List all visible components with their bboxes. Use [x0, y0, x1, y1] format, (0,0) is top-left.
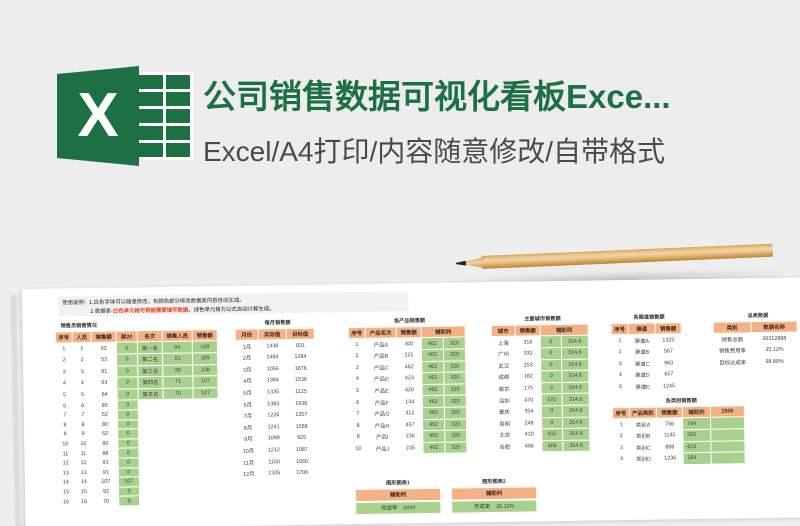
cell-sales[interactable]: 88	[93, 448, 118, 458]
cell-no[interactable]: 1	[612, 419, 629, 431]
cell-rank-person[interactable]	[164, 457, 194, 467]
table-row[interactable]: 3渠道C963	[612, 357, 682, 370]
cell-actual[interactable]: 1384	[259, 375, 287, 387]
cell-aux[interactable]: 744	[682, 418, 710, 430]
cell-month[interactable]: 12月	[237, 468, 260, 480]
cell-rank[interactable]: 第四名	[138, 377, 163, 389]
cell-sales[interactable]: 420	[397, 384, 422, 396]
cell-sales[interactable]: 80	[92, 420, 117, 430]
cell-rank-person[interactable]	[164, 486, 194, 496]
cell-summary-value[interactable]: 35.12%	[751, 344, 797, 356]
cell-no[interactable]: 8	[56, 420, 73, 430]
cell-sales[interactable]: 316	[515, 336, 540, 348]
cell-no[interactable]: 3	[612, 358, 629, 370]
cell-sales[interactable]: 236	[398, 431, 423, 443]
cell-top20[interactable]: 0	[119, 496, 140, 506]
cell-aux1[interactable]: 462	[422, 361, 444, 373]
cell-aux1[interactable]: 0	[540, 347, 561, 359]
cell-product-name[interactable]: 产品D	[366, 373, 397, 385]
cell-rank-person[interactable]	[163, 419, 193, 429]
cell-sales[interactable]: 63	[92, 377, 117, 389]
cell-rank-sales[interactable]	[194, 466, 219, 476]
cell-no[interactable]: 1	[348, 339, 365, 351]
cell-top20[interactable]: 0	[117, 389, 138, 401]
cell-aux2[interactable]: 314.6	[562, 428, 589, 440]
cell-top20[interactable]: 0	[117, 400, 138, 410]
cell-summary-value[interactable]: 26312888	[751, 332, 797, 344]
cell-no[interactable]: 10	[57, 439, 74, 449]
cell-target[interactable]: 1876	[287, 363, 315, 375]
cell-aux-bar[interactable]	[711, 440, 745, 452]
cell-rank-sales[interactable]: 109	[192, 341, 217, 353]
cell-aux-bar[interactable]	[711, 429, 745, 441]
cell-month[interactable]: 3月	[236, 364, 259, 376]
table-row[interactable]: 目标达成率98.88%	[714, 356, 798, 369]
cell-sales[interactable]: 107	[93, 477, 118, 487]
cell-rank[interactable]	[139, 457, 164, 467]
cell-person[interactable]: 15	[74, 487, 93, 497]
cell-aux1[interactable]: 0	[541, 417, 562, 429]
cell-no[interactable]: 16	[58, 497, 75, 507]
cell-aux1[interactable]: 0	[541, 371, 562, 383]
cell-target[interactable]: 1706	[288, 467, 316, 479]
cell-top20[interactable]: 0	[117, 377, 138, 389]
cell-sales[interactable]: 182	[516, 371, 541, 383]
cell-person[interactable]: 9	[74, 430, 93, 440]
cell-person[interactable]: 12	[74, 458, 93, 468]
cell-sales[interactable]: 423	[397, 373, 422, 385]
cell-month[interactable]: 6月	[236, 398, 259, 410]
cell-person[interactable]: 10	[74, 439, 93, 449]
cell-sales[interactable]: 470	[516, 394, 541, 406]
cell-sales[interactable]: 1245	[656, 380, 682, 392]
cell-aux2[interactable]: 314.6	[561, 347, 588, 359]
cell-sales[interactable]: 91	[93, 468, 118, 478]
channels-table[interactable]: 序号 渠道 销售额 1渠道A13252渠道B5673渠道C9634渠道D6575…	[611, 322, 683, 394]
cell-aux2[interactable]: 314.6	[561, 335, 588, 347]
cell-channel[interactable]: 渠道E	[629, 381, 656, 393]
cell-city[interactable]: 重庆	[492, 406, 516, 418]
cell-month[interactable]: 4月	[236, 375, 259, 387]
cell-aux1[interactable]: 462	[421, 338, 443, 350]
cell-sales[interactable]: 85	[92, 400, 117, 410]
cell-target[interactable]: 931	[286, 340, 314, 352]
cell-aux-bar[interactable]	[711, 452, 745, 464]
cities-table[interactable]: 城市 销售额 辅助列 上海3160314.6广州3320314.6武汉25303…	[491, 323, 591, 453]
cell-city[interactable]: 广州	[491, 348, 515, 360]
cell-city[interactable]: 北京	[493, 429, 517, 441]
cell-no[interactable]: 1	[55, 343, 72, 355]
cell-rank[interactable]: 第二名	[137, 353, 162, 365]
cell-month[interactable]: 9月	[237, 433, 260, 445]
cell-sales[interactable]: 406	[517, 441, 542, 453]
cell-aux2[interactable]: 320	[444, 418, 466, 430]
cell-aux1[interactable]: 462	[421, 349, 443, 361]
cell-sales[interactable]: 248	[516, 417, 541, 429]
cell-city[interactable]: 武汉	[492, 360, 516, 372]
cell-sales[interactable]: 80	[93, 439, 118, 449]
spreadsheet-sheet[interactable]: 使用说明：1.白色字体可以随意修改，有颜色部分修改数据表内容自动生成。 2.数据…	[22, 277, 800, 526]
cell-no[interactable]: 4	[612, 370, 629, 382]
cell-no[interactable]: 4	[349, 374, 366, 386]
cell-top20[interactable]: 0	[117, 365, 138, 377]
cell-aux1[interactable]: 462	[422, 419, 444, 431]
cell-rank[interactable]	[139, 429, 164, 439]
cell-no[interactable]: 2	[55, 355, 72, 367]
cell-rank-person[interactable]: 51	[162, 353, 192, 365]
table-row[interactable]: 合肥406406314.6	[493, 440, 590, 453]
cell-aux2[interactable]: 314.6	[561, 359, 588, 371]
cell-rank-sales[interactable]	[194, 457, 219, 467]
cell-sales[interactable]: 92	[93, 487, 118, 497]
cell-aux2[interactable]: 314.6	[562, 405, 589, 417]
cell-top20[interactable]: 0	[118, 486, 139, 496]
cell-summary-label[interactable]: 销售总额	[713, 333, 751, 345]
cell-product-name[interactable]: 产品E	[366, 385, 397, 397]
cell-rank-person[interactable]	[164, 476, 194, 486]
cell-sales[interactable]: 332	[515, 348, 540, 360]
cell-aux2[interactable]: 314.6	[562, 417, 589, 429]
cell-aux1[interactable]: 462	[423, 442, 445, 454]
cell-aux1[interactable]: 462	[422, 407, 444, 419]
cell-sales[interactable]: 756	[656, 418, 682, 430]
cell-rank[interactable]	[139, 448, 164, 458]
cell-rank[interactable]: 第五名	[138, 388, 163, 400]
cell-rank-person[interactable]: 64	[162, 341, 192, 353]
cell-sales[interactable]: 70	[94, 496, 119, 506]
cell-actual[interactable]: 1241	[259, 421, 287, 433]
cell-product-name[interactable]: 产品H	[366, 419, 397, 431]
cell-no[interactable]: 3	[56, 366, 73, 378]
cell-target[interactable]: 1284	[286, 351, 314, 363]
cell-no[interactable]: 11	[57, 449, 74, 459]
cell-no[interactable]: 2	[613, 430, 630, 442]
products-table[interactable]: 序号 产品名次 销售额 辅助列 1产品A3004623202产品B2214623…	[348, 325, 468, 455]
cell-target[interactable]: 1087	[288, 444, 316, 456]
cell-summary-label[interactable]: 销售费用率	[713, 345, 751, 357]
cell-product-name[interactable]: 产品F	[366, 396, 397, 408]
cell-rank[interactable]	[139, 438, 164, 448]
cell-no[interactable]: 4	[56, 378, 73, 390]
cell-rank-person[interactable]: 71	[163, 376, 193, 388]
cell-person[interactable]: 4	[73, 378, 92, 390]
cell-rank-person[interactable]	[165, 495, 195, 505]
cell-top20[interactable]: 0	[116, 354, 137, 366]
cell-aux2[interactable]: 320	[444, 407, 466, 419]
cell-no[interactable]: 15	[57, 487, 74, 497]
cell-person[interactable]: 14	[74, 478, 93, 488]
cell-sales[interactable]: 52	[92, 410, 117, 420]
cell-aux1[interactable]: 470	[541, 394, 562, 406]
cell-rank-sales[interactable]	[195, 495, 220, 505]
cell-product-name[interactable]: 产品I	[367, 431, 398, 443]
cell-city[interactable]: 南京	[492, 383, 516, 395]
cell-aux1[interactable]: 410	[542, 429, 563, 441]
monthly-table[interactable]: 月份 实际值 目标值 1月14389312月148412843月10551876…	[235, 327, 317, 480]
cell-rank[interactable]: 第一名	[137, 342, 162, 354]
cell-rank-person[interactable]	[164, 447, 194, 457]
cell-sales[interactable]: 300	[396, 338, 421, 350]
cell-actual[interactable]: 1484	[258, 352, 286, 364]
cell-rank-person[interactable]	[163, 409, 193, 419]
cell-top20[interactable]: 0	[118, 448, 139, 458]
cell-aux2[interactable]: 320	[444, 395, 466, 407]
cell-rank[interactable]	[138, 419, 163, 429]
cell-actual[interactable]: 1383	[259, 398, 287, 410]
summary-table[interactable]: 类别 数据名称 销售总额26312888销售费用率35.12%目标达成率98.8…	[713, 320, 799, 369]
cell-rank-sales[interactable]: 107	[193, 376, 218, 388]
cell-month[interactable]: 8月	[236, 422, 259, 434]
cell-top20[interactable]: 0	[118, 458, 139, 468]
cell-no[interactable]: 3	[349, 362, 366, 374]
cell-product-name[interactable]: 产品A	[365, 338, 396, 350]
cell-sales[interactable]: 410	[517, 429, 542, 441]
cell-rank[interactable]	[139, 467, 164, 477]
cell-sales[interactable]: 462	[397, 361, 422, 373]
cell-person[interactable]: 1	[72, 343, 91, 355]
cell-target[interactable]: 1938	[287, 398, 315, 410]
cell-sales[interactable]: 1236	[657, 453, 683, 465]
cell-person[interactable]: 16	[75, 497, 94, 507]
cell-top20[interactable]: 0	[118, 467, 139, 477]
cell-category[interactable]: 类别B	[630, 430, 657, 442]
table-row[interactable]: 1渠道A1325	[611, 334, 681, 347]
cell-aux2[interactable]: 320	[444, 360, 466, 372]
table-row[interactable]: 12月13261706	[237, 467, 316, 480]
cell-rank-sales[interactable]	[194, 428, 219, 438]
cell-aux[interactable]: 264	[683, 452, 711, 464]
cell-rank[interactable]	[138, 400, 163, 410]
cell-aux1[interactable]: 462	[423, 430, 445, 442]
cell-target[interactable]: 1660	[288, 455, 316, 467]
cell-rank[interactable]: 第三名	[138, 365, 163, 377]
salesperson-table[interactable]: 序号 人员 销售额 前20 名次 销售人员 销售额 11620第一名641092…	[55, 329, 221, 508]
cell-month[interactable]: 11月	[237, 456, 260, 468]
cell-sales[interactable]: 457	[397, 419, 422, 431]
cell-no[interactable]: 14	[57, 478, 74, 488]
cell-month[interactable]: 1月	[235, 340, 258, 352]
cell-actual[interactable]: 1212	[260, 444, 288, 456]
cell-sales[interactable]: 91	[93, 458, 118, 468]
cell-person[interactable]: 8	[73, 420, 92, 430]
table-row[interactable]: 5渠道E1245	[612, 380, 682, 393]
cell-actual[interactable]: 1099	[260, 433, 288, 445]
cell-actual[interactable]: 1438	[258, 340, 286, 352]
cell-rank-sales[interactable]	[193, 409, 218, 419]
cell-rank-person[interactable]: 70	[163, 388, 193, 400]
cell-actual[interactable]: 1150	[260, 456, 288, 468]
cell-channel[interactable]: 渠道D	[629, 369, 656, 381]
cell-sales[interactable]: 354	[516, 406, 541, 418]
cell-rank-sales[interactable]	[194, 485, 219, 495]
cell-sales[interactable]: 53	[91, 354, 116, 366]
cell-rank-sales[interactable]: 109	[192, 353, 217, 365]
cell-top20[interactable]: 107	[118, 477, 139, 487]
cell-person[interactable]: 11	[74, 449, 93, 459]
chart-completion-rate[interactable]: 完成率35.12%	[451, 499, 537, 513]
cell-category[interactable]: 类别C	[630, 442, 657, 454]
cell-actual[interactable]: 1055	[259, 363, 287, 375]
cell-rank-sales[interactable]	[194, 476, 219, 486]
cell-sales[interactable]: 963	[656, 357, 682, 369]
chart-block-1[interactable]: 图形图表1辅助列完成率####	[355, 479, 442, 515]
cell-no[interactable]: 12	[57, 459, 74, 469]
cell-aux-bar[interactable]	[710, 417, 744, 429]
cell-no[interactable]: 6	[56, 401, 73, 411]
cell-aux[interactable]: 355	[683, 429, 711, 441]
cell-top20[interactable]: 0	[117, 410, 138, 420]
cell-no[interactable]: 5	[612, 381, 629, 393]
cell-channel[interactable]: 渠道C	[629, 358, 656, 370]
cell-sales[interactable]: 62	[93, 429, 118, 439]
cell-actual[interactable]: 1326	[260, 467, 288, 479]
cell-person[interactable]: 6	[73, 401, 92, 411]
cell-aux2[interactable]: 314.6	[561, 370, 588, 382]
cell-top20[interactable]: 0	[118, 439, 139, 449]
cell-sales[interactable]: 64	[92, 389, 117, 401]
table-row[interactable]: 1616700	[58, 495, 220, 507]
cell-rank-person[interactable]	[164, 466, 194, 476]
cell-sales[interactable]: 888	[657, 441, 683, 453]
categories-table[interactable]: 序号 产品类别 销售额 辅助列 1500 1类别A756744 2类别B1145…	[612, 405, 746, 466]
cell-actual[interactable]: 1226	[259, 410, 287, 422]
cell-aux[interactable]: 612	[683, 441, 711, 453]
cell-sales[interactable]: 134	[397, 396, 422, 408]
cell-category[interactable]: 类别A	[629, 418, 656, 430]
cell-rank[interactable]	[140, 496, 165, 506]
cell-aux2[interactable]: 320	[444, 384, 466, 396]
cell-no[interactable]: 9	[57, 430, 74, 440]
table-row[interactable]: 2渠道B567	[611, 346, 681, 359]
table-row[interactable]: 4类别D1236264	[613, 452, 745, 466]
table-row[interactable]: 10产品J235462320	[350, 442, 467, 455]
cell-aux2[interactable]: 320	[444, 372, 466, 384]
cell-city[interactable]: 昆明	[492, 418, 516, 430]
cell-month[interactable]: 10月	[237, 445, 260, 457]
cell-aux1[interactable]: 0	[541, 359, 562, 371]
cell-summary-value[interactable]: 98.88%	[752, 356, 798, 368]
cell-person[interactable]: 2	[72, 354, 91, 366]
cell-aux1[interactable]: 462	[422, 384, 444, 396]
cell-product-name[interactable]: 产品G	[366, 408, 397, 420]
cell-target[interactable]: 1125	[287, 386, 315, 398]
cell-category[interactable]: 类别D	[630, 453, 657, 465]
cell-rank-sales[interactable]: 107	[193, 387, 218, 399]
cell-no[interactable]: 8	[349, 420, 366, 432]
cell-sales[interactable]: 312	[397, 408, 422, 420]
cell-aux2[interactable]: 320	[443, 337, 465, 349]
cell-product-name[interactable]: 产品C	[366, 362, 397, 374]
table-row[interactable]: 4渠道D657	[612, 369, 682, 382]
cell-sales[interactable]: 253	[516, 359, 541, 371]
cell-rank-sales[interactable]	[194, 437, 219, 447]
cell-aux2[interactable]: 320	[443, 349, 465, 361]
cell-city[interactable]: 上海	[491, 337, 515, 349]
cell-no[interactable]: 1	[611, 335, 628, 347]
cell-month[interactable]: 7月	[236, 410, 259, 422]
cell-rank[interactable]	[139, 477, 164, 487]
cell-no[interactable]: 5	[349, 385, 366, 397]
cell-no[interactable]: 5	[56, 390, 73, 402]
cell-rank-sales[interactable]	[194, 447, 219, 457]
cell-no[interactable]: 6	[349, 397, 366, 409]
cell-sales[interactable]: 81	[92, 366, 117, 378]
cell-no[interactable]: 2	[611, 346, 628, 358]
cell-aux2[interactable]: 320	[445, 430, 467, 442]
cell-rank[interactable]	[138, 409, 163, 419]
cell-person[interactable]: 7	[73, 410, 92, 420]
cell-summary-label[interactable]: 目标达成率	[714, 356, 752, 368]
cell-top20[interactable]: 0	[116, 342, 137, 354]
cell-no[interactable]: 2	[348, 350, 365, 362]
cell-aux1[interactable]: 0	[540, 336, 561, 348]
cell-aux1[interactable]: 462	[422, 396, 444, 408]
chart-block-2[interactable]: 图形图表2辅助列完成率35.12%	[451, 477, 538, 513]
cell-month[interactable]: 2月	[235, 352, 258, 364]
cell-sales[interactable]: 235	[398, 442, 423, 454]
cell-rank-sales[interactable]: 108	[193, 364, 218, 376]
cell-sales[interactable]: 62	[91, 342, 116, 354]
cell-rank[interactable]	[139, 486, 164, 496]
cell-sales[interactable]: 221	[396, 350, 421, 362]
cell-rank-person[interactable]	[164, 438, 194, 448]
cell-sales[interactable]: 1145	[657, 430, 683, 442]
cell-no[interactable]: 13	[57, 468, 74, 478]
cell-product-name[interactable]: 产品J	[367, 443, 398, 455]
cell-city[interactable]: 合肥	[493, 441, 517, 453]
cell-no[interactable]: 7	[349, 408, 366, 420]
cell-sales[interactable]: 567	[655, 346, 681, 358]
cell-no[interactable]: 9	[350, 432, 367, 444]
cell-target[interactable]: 925	[288, 432, 316, 444]
cell-rank-person[interactable]	[163, 399, 193, 409]
cell-target[interactable]: 1357	[287, 409, 315, 421]
cell-channel[interactable]: 渠道A	[628, 334, 655, 346]
cell-no[interactable]: 3	[613, 442, 630, 454]
cell-person[interactable]: 5	[73, 389, 92, 401]
cell-aux1[interactable]: 0	[541, 405, 562, 417]
cell-rank-sales[interactable]	[193, 418, 218, 428]
cell-aux2[interactable]: 314.6	[562, 393, 589, 405]
cell-rank-person[interactable]	[164, 428, 194, 438]
cell-sales[interactable]: 1325	[655, 334, 681, 346]
cell-month[interactable]: 5月	[236, 387, 259, 399]
cell-no[interactable]: 7	[56, 411, 73, 421]
cell-top20[interactable]: 0	[117, 419, 138, 429]
cell-aux1[interactable]: 462	[422, 372, 444, 384]
cell-rank-person[interactable]: 39	[163, 365, 193, 377]
cell-sales[interactable]: 175	[516, 383, 541, 395]
cell-aux2[interactable]: 314.6	[562, 440, 589, 452]
cell-aux2[interactable]: 314.6	[562, 382, 589, 394]
cell-aux2[interactable]: 320	[445, 442, 467, 454]
cell-rank-sales[interactable]	[193, 399, 218, 409]
cell-product-name[interactable]: 产品B	[365, 350, 396, 362]
cell-city[interactable]: 深圳	[492, 395, 516, 407]
cell-target[interactable]: 1568	[287, 421, 315, 433]
cell-city[interactable]: 成都	[492, 371, 516, 383]
cell-person[interactable]: 3	[73, 366, 92, 378]
cell-person[interactable]: 13	[74, 468, 93, 478]
cell-top20[interactable]: 0	[118, 429, 139, 439]
cell-channel[interactable]: 渠道B	[628, 346, 655, 358]
cell-actual[interactable]: 1335	[259, 386, 287, 398]
cell-no[interactable]: 10	[350, 443, 367, 455]
cell-aux1[interactable]: 406	[542, 440, 563, 452]
cell-target[interactable]: 1536	[287, 374, 315, 386]
cell-sales[interactable]: 657	[656, 369, 682, 381]
cell-no[interactable]: 4	[613, 454, 630, 466]
